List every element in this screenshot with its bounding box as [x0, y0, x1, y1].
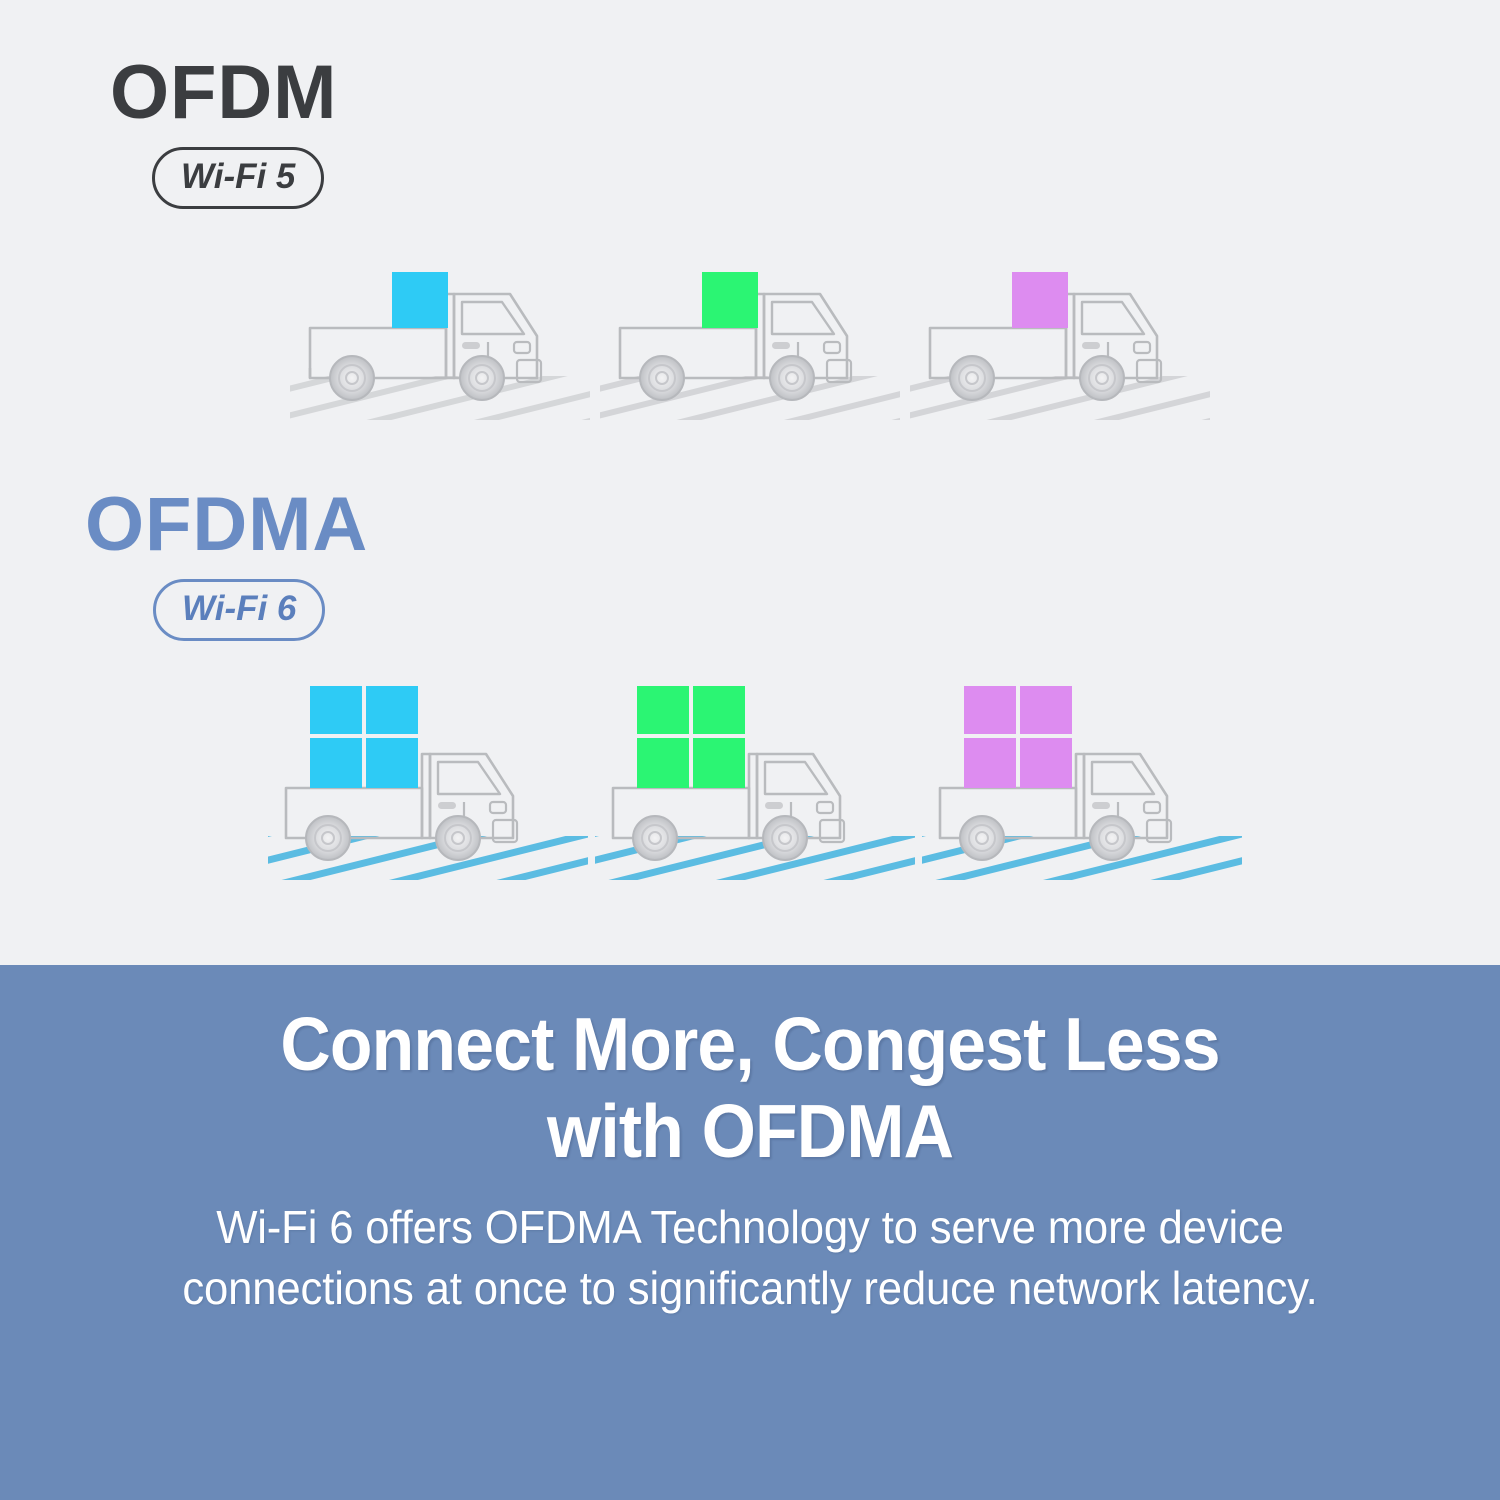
cargo-box-single	[702, 272, 758, 328]
wifi6-badge: Wi-Fi 6	[153, 579, 325, 641]
cargo-box-quad	[964, 686, 1072, 788]
truck-ofdma-green	[599, 668, 926, 883]
banner-body-text: Wi-Fi 6 offers OFDMA Technology to serve…	[137, 1197, 1363, 1319]
truck-ofdm-green	[606, 250, 916, 425]
bottom-banner: Connect More, Congest Less with OFDMA Wi…	[0, 965, 1500, 1500]
cargo-box-single	[392, 272, 448, 328]
banner-title-line-1: Connect More, Congest Less	[280, 1002, 1219, 1086]
cargo-box-quad	[637, 686, 745, 788]
cargo-box-quad	[310, 686, 418, 788]
ofdm-label-block: OFDM Wi-Fi 5	[110, 55, 337, 209]
ofdma-label-block: OFDMA Wi-Fi 6	[85, 487, 368, 641]
banner-title-line-2: with OFDMA	[547, 1089, 953, 1173]
infographic-canvas: OFDM Wi-Fi 5	[0, 0, 1500, 1500]
ofdma-acronym: OFDMA	[85, 487, 368, 563]
truck-ofdma-purple	[926, 668, 1253, 883]
banner-title: Connect More, Congest Less with OFDMA	[280, 1001, 1219, 1175]
ofdm-truck-row	[296, 250, 1226, 425]
truck-ofdma-cyan	[272, 668, 599, 883]
ofdm-acronym: OFDM	[110, 55, 337, 131]
truck-ofdm-cyan	[296, 250, 606, 425]
truck-ofdm-purple	[916, 250, 1226, 425]
wifi5-badge: Wi-Fi 5	[152, 147, 324, 209]
cargo-box-single	[1012, 272, 1068, 328]
ofdma-truck-row	[272, 668, 1252, 883]
